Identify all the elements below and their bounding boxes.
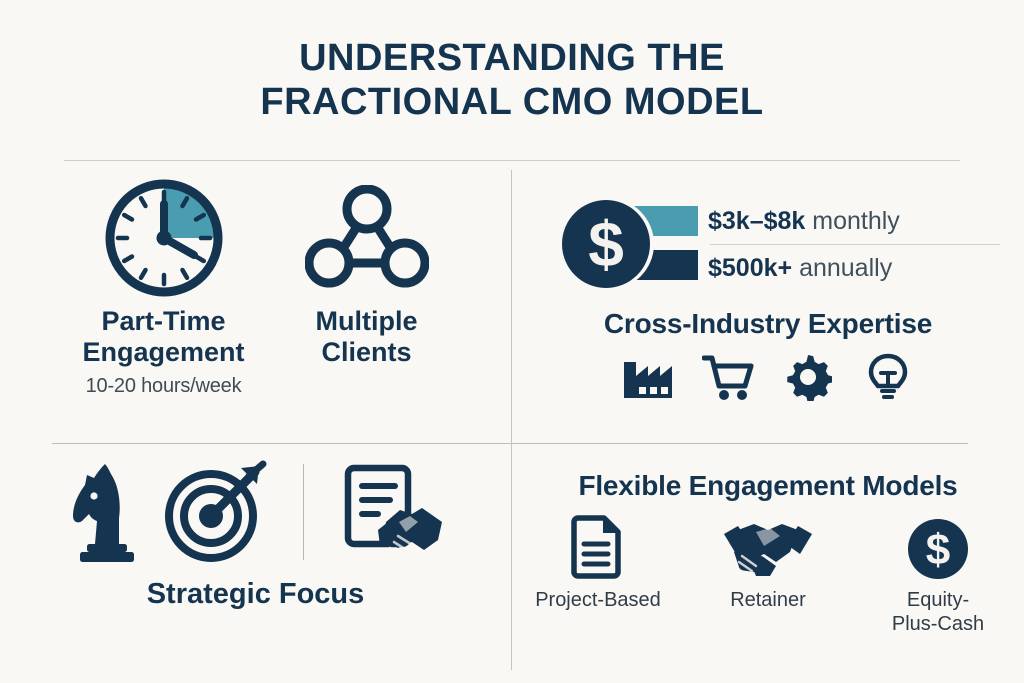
multiple-clients-label-line1: Multiple [316,306,418,337]
contract-handshake-icon [340,460,450,564]
model-retainer-label: Retainer [730,588,806,612]
pricing-list: $3k–$8k monthly $500k+ annually [708,200,1000,289]
multiple-clients-item: Multiple Clients [305,182,429,368]
strategic-focus-label: Strategic Focus [0,578,511,611]
handshake-icon [720,514,816,580]
lightbulb-icon [861,352,915,402]
dollar-coin-bars-icon: $ [560,194,700,294]
model-retainer: Retainer [700,514,836,612]
industry-icon-row [512,352,1024,402]
multiple-clients-label-line2: Clients [316,337,418,368]
flexible-engagement-models-title: Flexible Engagement Models [512,444,1024,502]
title-line-1: UNDERSTANDING THE [0,36,1024,80]
svg-text:$: $ [926,526,950,575]
divider-under-title [64,160,960,161]
title-line-2: FRACTIONAL CMO MODEL [0,80,1024,124]
page-title: UNDERSTANDING THE FRACTIONAL CMO MODEL [0,36,1024,124]
strategic-icons-divider [303,464,304,560]
pricing-divider [710,244,1000,245]
part-time-label-line1: Part-Time [82,306,244,337]
pricing-annual-amount: $500k+ [708,254,792,282]
chess-knight-icon [61,460,141,564]
cross-industry-expertise-title: Cross-Industry Expertise [512,308,1024,340]
pricing-monthly-period: monthly [805,207,899,235]
factory-icon [621,352,675,402]
quadrant-part-time: Part-Time Engagement 10-20 hours/week [0,168,511,443]
model-project-based-label: Project-Based [535,588,661,612]
clock-icon [100,182,228,294]
dollar-coin-icon: $ [907,514,969,580]
model-equity-plus-cash-label: Equity- Plus-Cash [892,588,984,636]
engagement-models-row: Project-Based [512,514,1024,636]
quadrant-compensation: $ $3k–$8k monthly $500k+ annually Cross-… [512,168,1024,443]
quadrant-strategic-focus: Strategic Focus [0,444,511,683]
model-equity-plus-cash: $ Equity- Plus-Cash [870,514,1006,636]
pricing-monthly-amount: $3k–$8k [708,207,805,235]
multiple-clients-label: Multiple Clients [316,306,418,368]
model-project-based: Project-Based [530,514,666,612]
pricing-monthly: $3k–$8k monthly [708,200,1000,242]
infographic-canvas: UNDERSTANDING THE FRACTIONAL CMO MODEL [0,0,1024,683]
model-equity-plus-cash-text: Equity- Plus-Cash [892,589,984,635]
pricing-annual-period: annually [792,254,892,282]
shopping-cart-icon [701,352,755,402]
quadrant-engagement-models: Flexible Engagement Models Project-Based [512,444,1024,683]
document-icon [570,514,626,580]
part-time-label-line2: Engagement [82,337,244,368]
network-nodes-icon [305,182,429,294]
part-time-engagement-item: Part-Time Engagement 10-20 hours/week [82,182,244,398]
part-time-label: Part-Time Engagement [82,306,244,368]
pricing-annual: $500k+ annually [708,247,1000,289]
target-arrow-icon [163,460,267,564]
part-time-sublabel: 10-20 hours/week [86,375,242,398]
gear-icon [781,352,835,402]
svg-text:$: $ [588,208,624,280]
